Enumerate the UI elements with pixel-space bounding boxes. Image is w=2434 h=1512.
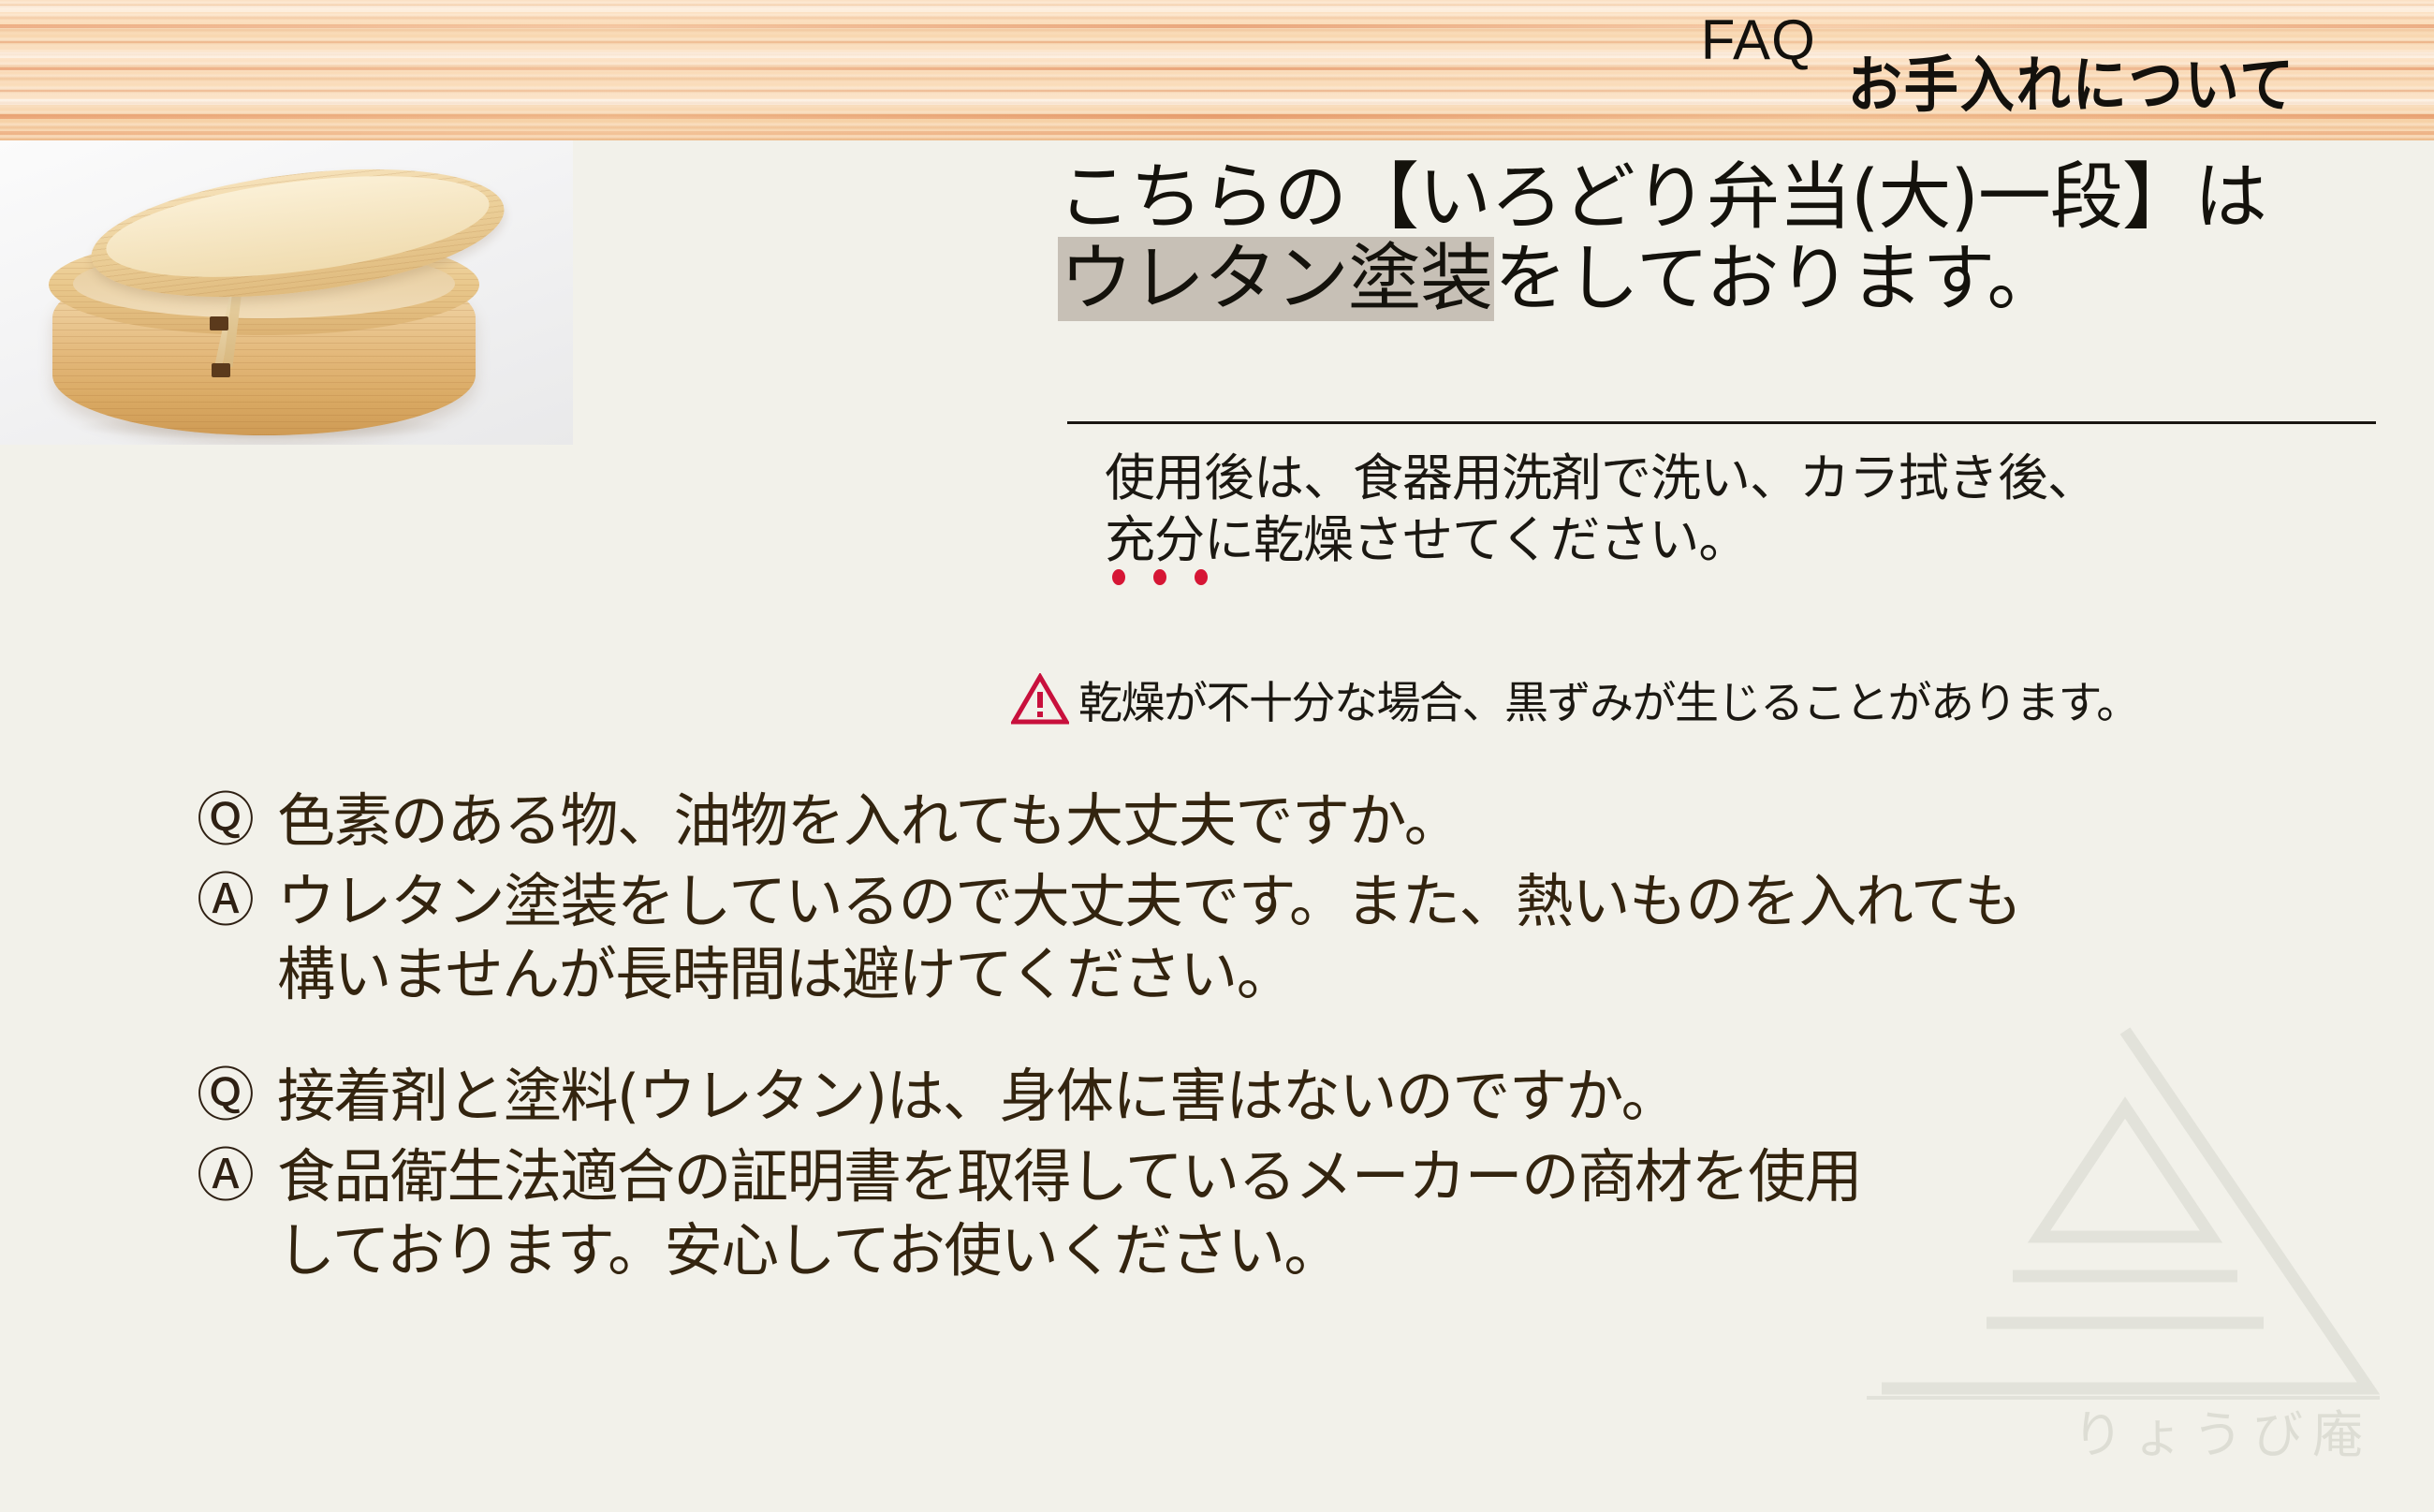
watermark-divider (1867, 1396, 2380, 1400)
usage-emphasis: 充分に (1105, 510, 1254, 569)
faq-text-line: 色素のある物、油物を入れても大丈夫ですか。 (277, 785, 1460, 858)
faq-answer-text: 食品衛生法適合の証明書を取得しているメーカーの商材を使用 しております。安心して… (277, 1140, 1861, 1286)
headline-line-1: こちらの【いろどり弁当(大)一段】は (1058, 157, 2397, 239)
faq-question: Ⓠ 接着剤と塗料(ウレタン)は、身体に害はないのですか。 (197, 1060, 2387, 1133)
urethane-highlight: ウレタン塗装 (1058, 237, 1494, 321)
warning-row: 乾燥が不十分な場合、黒ずみが生じることがあります。 (1011, 667, 2139, 731)
header-wood-band: FAQ お手入れについて (0, 0, 2434, 140)
warning-text: 乾燥が不十分な場合、黒ずみが生じることがあります。 (1078, 667, 2139, 731)
faq-text-line: ウレタン塗装をしているので大丈夫です。また、熱いものを入れても (277, 865, 2020, 938)
faq-text-line: 構いませんが長時間は避けてください。 (277, 938, 2020, 1011)
headline-line-2: ウレタン塗装をしております。 (1058, 239, 2397, 320)
usage-line-1: 使用後は、食器用洗剤で洗い、カラ拭き後、 (1105, 448, 2415, 509)
faq-list: Ⓠ 色素のある物、油物を入れても大丈夫ですか。 Ⓐ ウレタン塗装をしているので大… (197, 785, 2387, 1295)
faq-answer-text: ウレタン塗装をしているので大丈夫です。また、熱いものを入れても 構いませんが長時… (277, 865, 2020, 1011)
faq-text-line: 接着剤と塗料(ウレタン)は、身体に害はないのですか。 (277, 1060, 1678, 1133)
cherry-bark-stitch (210, 316, 228, 330)
usage-line-2-rest: 乾燥させてください。 (1254, 510, 1748, 569)
faq-question-text: 接着剤と塗料(ウレタン)は、身体に害はないのですか。 (277, 1060, 1678, 1133)
question-mark-icon: Ⓠ (197, 785, 277, 856)
faq-text-line: しております。安心してお使いください。 (277, 1214, 1861, 1287)
header-title-group: FAQ お手入れについて (1701, 0, 2434, 140)
headline-divider (1067, 421, 2376, 424)
answer-mark-icon: Ⓐ (197, 865, 277, 936)
faq-label: FAQ (1701, 7, 1816, 72)
product-photo (0, 140, 573, 445)
usage-line-2: 充分に乾燥させてください。 (1105, 509, 2415, 571)
usage-instructions: 使用後は、食器用洗剤で洗い、カラ拭き後、 充分に乾燥させてください。 (1105, 448, 2415, 571)
faq-question-text: 色素のある物、油物を入れても大丈夫ですか。 (277, 785, 1460, 858)
question-mark-icon: Ⓠ (197, 1060, 277, 1131)
faq-question: Ⓠ 色素のある物、油物を入れても大丈夫ですか。 (197, 785, 2387, 858)
answer-mark-icon: Ⓐ (197, 1140, 277, 1211)
faq-text-line: 食品衛生法適合の証明書を取得しているメーカーの商材を使用 (277, 1140, 1861, 1213)
headline-block: こちらの【いろどり弁当(大)一段】は ウレタン塗装をしております。 (1058, 157, 2397, 321)
faq-answer: Ⓐ 食品衛生法適合の証明書を取得しているメーカーの商材を使用 しております。安心… (197, 1140, 2387, 1286)
warning-triangle-icon (1011, 673, 1069, 726)
faq-answer: Ⓐ ウレタン塗装をしているので大丈夫です。また、熱いものを入れても 構いませんが… (197, 865, 2387, 1011)
cherry-bark-stitch (212, 363, 230, 377)
headline-line-2-rest: をしております。 (1494, 237, 2060, 321)
watermark-brand-name: りょうび庵 (2073, 1393, 2372, 1467)
care-title: お手入れについて (1848, 36, 2295, 124)
